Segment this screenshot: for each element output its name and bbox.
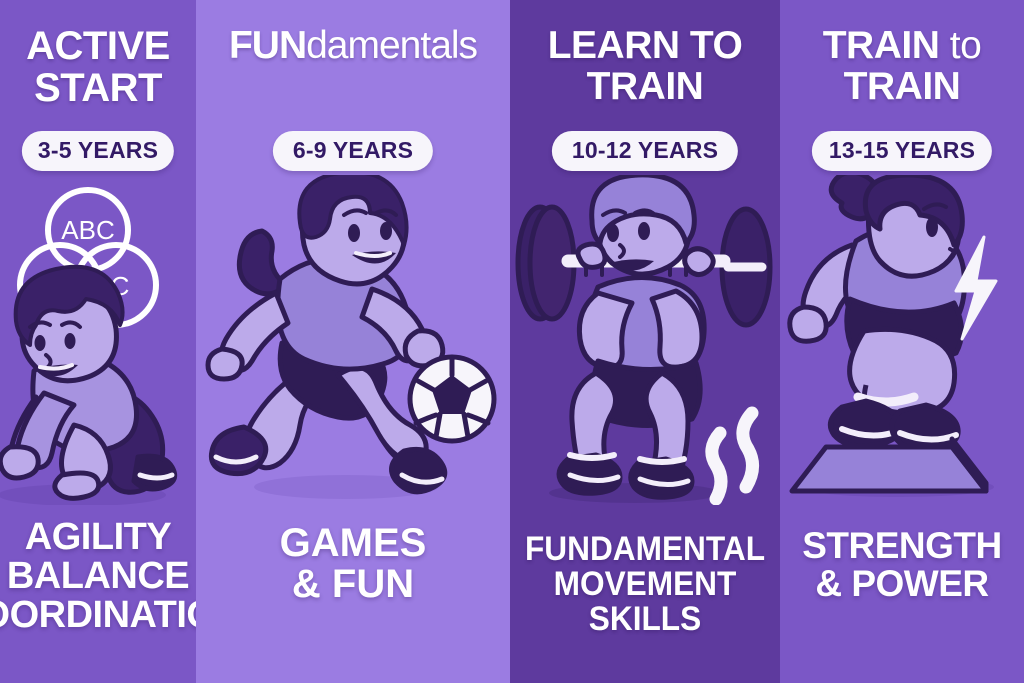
title-bold-part: FUN <box>229 24 306 67</box>
title-line: TRAIN <box>780 67 1024 108</box>
crawling-toddler-illustration <box>0 267 175 505</box>
panel-active-start: ACTIVE START 3-5 YEARS ABC AG C <box>0 0 196 683</box>
illustration-fundamentals <box>196 175 510 505</box>
caption-line: & POWER <box>780 565 1024 603</box>
panel-caption-fundamentals: GAMES & FUN <box>196 523 510 605</box>
caption-line: COORDINATION <box>0 596 196 635</box>
soccer-ball-icon <box>410 357 494 441</box>
illustration-train-to-train <box>780 175 1024 505</box>
abc-circle-label: ABC <box>61 215 114 245</box>
title-light-part: to <box>950 24 982 67</box>
title-line: LEARN TO <box>510 26 780 67</box>
barbell-squat-illustration <box>510 175 780 505</box>
panel-title-train-to-train: TRAIN to TRAIN <box>780 26 1024 107</box>
title-line: TRAIN <box>510 67 780 108</box>
panel-title-learn-to-train: LEARN TO TRAIN <box>510 26 780 107</box>
plyo-box-icon <box>792 439 986 491</box>
ltad-stages-infographic: ACTIVE START 3-5 YEARS ABC AG C <box>0 0 1024 683</box>
abc-circles-icon: ABC AG C <box>0 175 196 505</box>
caption-line: MOVEMENT <box>510 567 780 602</box>
caption-line: FUNDAMENTAL <box>510 532 780 567</box>
panel-caption-active-start: AGILITY BALANCE COORDINATION <box>0 518 196 635</box>
title-line: FUNdamentals <box>196 26 510 67</box>
motion-squiggle-icon <box>712 413 753 499</box>
panel-caption-learn-to-train: FUNDAMENTAL MOVEMENT SKILLS <box>510 532 780 637</box>
illustration-active-start: ABC AG C <box>0 175 196 505</box>
title-line: TRAIN to <box>780 26 1024 67</box>
panel-learn-to-train: LEARN TO TRAIN 10-12 YEARS <box>510 0 780 683</box>
age-badge-learn-to-train: 10-12 YEARS <box>552 131 738 171</box>
title-light-part: damentals <box>306 24 477 67</box>
running-girl-illustration <box>196 175 510 505</box>
title-bold-part: TRAIN <box>823 24 950 67</box>
title-line: START <box>0 68 196 110</box>
panel-fundamentals: FUNdamentals 6-9 YEARS <box>196 0 510 683</box>
panel-title-active-start: ACTIVE START <box>0 26 196 109</box>
panel-train-to-train: TRAIN to TRAIN 13-15 YEARS <box>780 0 1024 683</box>
age-badge-train-to-train: 13-15 YEARS <box>812 131 992 171</box>
panel-title-fundamentals: FUNdamentals <box>196 26 510 67</box>
caption-line: BALANCE <box>0 557 196 596</box>
title-line: ACTIVE <box>0 26 196 68</box>
illustration-learn-to-train <box>510 175 780 505</box>
age-badge-active-start: 3-5 YEARS <box>22 131 174 171</box>
caption-line: SKILLS <box>510 602 780 637</box>
caption-line: AGILITY <box>0 518 196 557</box>
caption-line: & FUN <box>196 564 510 605</box>
caption-line: GAMES <box>196 523 510 564</box>
caption-line: STRENGTH <box>780 527 1024 565</box>
age-badge-fundamentals: 6-9 YEARS <box>273 131 433 171</box>
panel-caption-train-to-train: STRENGTH & POWER <box>780 527 1024 603</box>
box-jump-illustration <box>780 175 1024 505</box>
